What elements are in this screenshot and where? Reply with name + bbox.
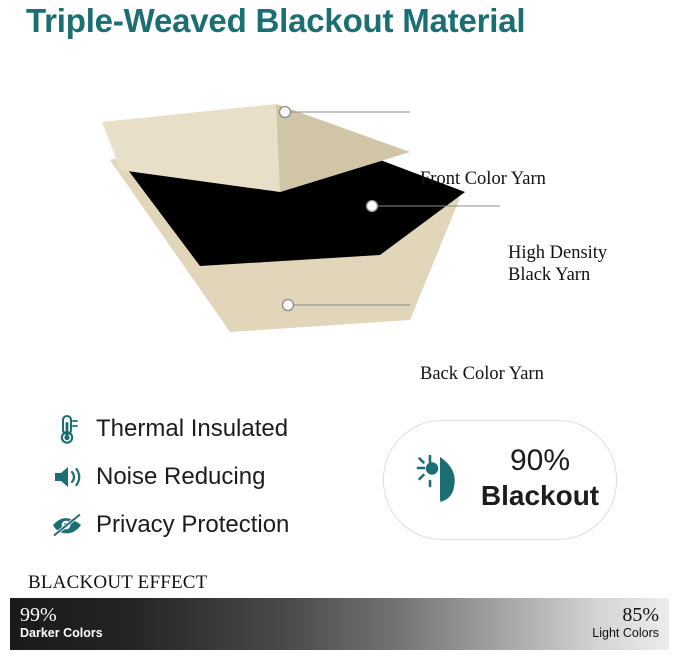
callout-label-front: Front Color Yarn bbox=[420, 168, 546, 190]
blackout-effect-heading: BLACKOUT EFFECT bbox=[28, 572, 207, 594]
speaker-sound-icon bbox=[50, 460, 84, 494]
thermometer-icon bbox=[50, 412, 84, 446]
eye-slash-icon bbox=[50, 508, 84, 542]
feature-label: Privacy Protection bbox=[96, 511, 289, 539]
blackout-label: Blackout bbox=[480, 479, 600, 513]
blackout-effect-gradient-bar bbox=[10, 598, 669, 650]
feature-list: Thermal Insulated Noise Reducing bbox=[50, 408, 390, 552]
fabric-layers-illustration bbox=[80, 70, 600, 370]
callout-label-back: Back Color Yarn bbox=[420, 363, 544, 385]
feature-item-privacy-protection: Privacy Protection bbox=[50, 504, 390, 546]
blackout-badge: 90% Blackout bbox=[383, 420, 617, 540]
sun-blocked-icon bbox=[410, 449, 472, 511]
callout-label-high-density-line1: High Density bbox=[508, 242, 607, 264]
left-percent: 99% bbox=[20, 604, 103, 626]
blackout-badge-text: 90% Blackout bbox=[480, 443, 600, 513]
callout-dot-front bbox=[280, 107, 291, 118]
blackout-effect-left: 99% Darker Colors bbox=[20, 604, 103, 641]
page-title: Triple-Weaved Blackout Material bbox=[26, 2, 525, 40]
callout-label-high-density: High Density Black Yarn bbox=[508, 242, 607, 286]
product-infographic: Triple-Weaved Blackout Material Front Co… bbox=[0, 0, 679, 656]
feature-item-thermal-insulated: Thermal Insulated bbox=[50, 408, 390, 450]
blackout-percent: 90% bbox=[480, 443, 600, 479]
callout-dot-high-density bbox=[367, 201, 378, 212]
fabric-layer-diagram: Front Color Yarn High Density Black Yarn… bbox=[80, 70, 600, 360]
right-percent: 85% bbox=[592, 604, 659, 626]
callout-dot-back bbox=[283, 300, 294, 311]
left-label: Darker Colors bbox=[20, 626, 103, 641]
feature-item-noise-reducing: Noise Reducing bbox=[50, 456, 390, 498]
callout-label-high-density-line2: Black Yarn bbox=[508, 264, 607, 286]
right-label: Light Colors bbox=[592, 626, 659, 641]
feature-label: Noise Reducing bbox=[96, 463, 265, 491]
blackout-effect-right: 85% Light Colors bbox=[592, 604, 659, 641]
feature-label: Thermal Insulated bbox=[96, 415, 288, 443]
